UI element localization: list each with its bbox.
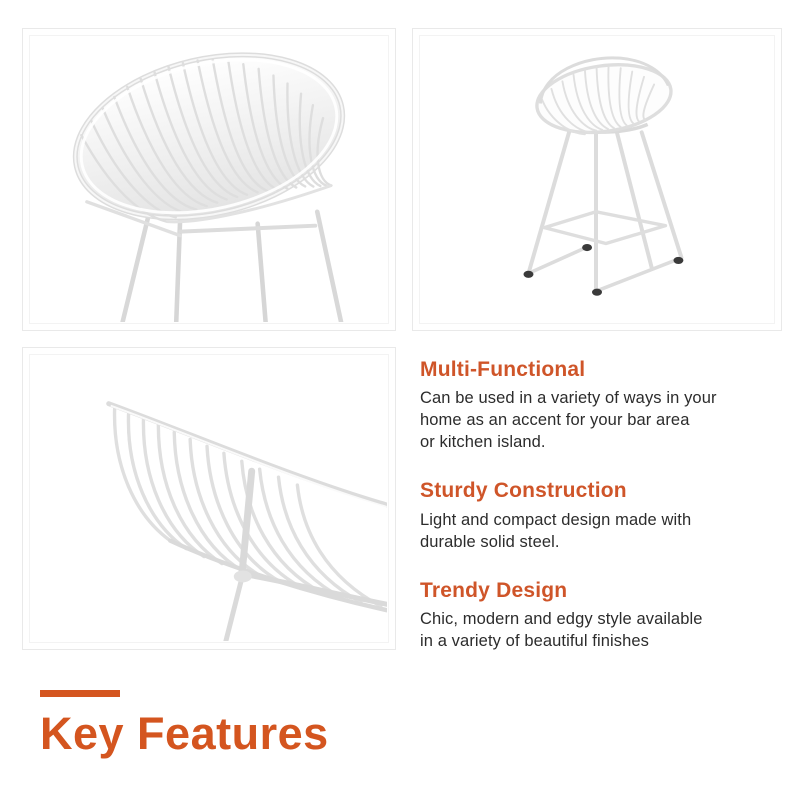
seat-detail-image bbox=[31, 356, 387, 641]
product-image-panel-chair-angle bbox=[22, 28, 396, 331]
page-title: Key Features bbox=[40, 711, 329, 756]
feature-title: Multi-Functional bbox=[420, 358, 782, 381]
product-image-panel-stool-full bbox=[412, 28, 782, 331]
product-image-panel-seat-detail bbox=[22, 347, 396, 650]
feature-title: Sturdy Construction bbox=[420, 479, 782, 502]
feature-body: Chic, modern and edgy style available in… bbox=[420, 608, 782, 652]
feature-body: Can be used in a variety of ways in your… bbox=[420, 387, 782, 453]
feature-item-sturdy-construction: Sturdy Construction Light and compact de… bbox=[420, 479, 782, 552]
feature-body: Light and compact design made with durab… bbox=[420, 509, 782, 553]
chair-angle-image bbox=[31, 37, 387, 322]
feature-title: Trendy Design bbox=[420, 579, 782, 602]
key-features-accent-rule bbox=[40, 690, 120, 697]
feature-item-trendy-design: Trendy Design Chic, modern and edgy styl… bbox=[420, 579, 782, 652]
features-list: Multi-Functional Can be used in a variet… bbox=[420, 358, 782, 652]
feature-item-multi-functional: Multi-Functional Can be used in a variet… bbox=[420, 358, 782, 453]
key-features-block: Key Features bbox=[40, 690, 329, 756]
stool-full-image bbox=[421, 37, 773, 322]
